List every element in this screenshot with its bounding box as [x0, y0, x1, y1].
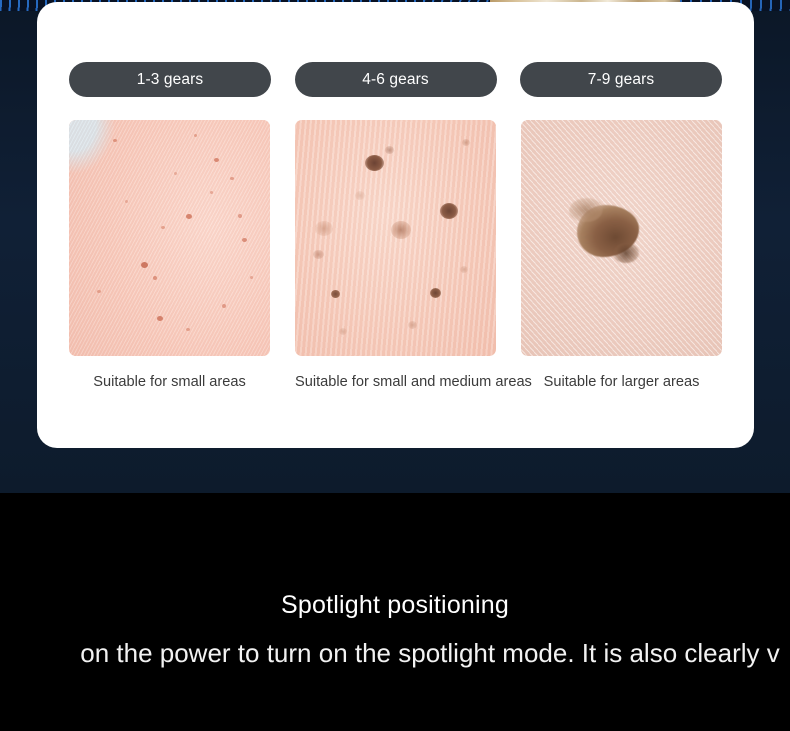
gear-example-images	[69, 120, 722, 356]
spotlight-section-title: Spotlight positioning	[0, 591, 790, 620]
skin-medium-spots-photo	[295, 120, 496, 356]
gear-tab-1-3[interactable]: 1-3 gears	[69, 62, 271, 97]
skin-small-spots-photo	[69, 120, 270, 356]
caption-larger-areas: Suitable for larger areas	[521, 374, 722, 390]
caption-medium-areas: Suitable for small and medium areas	[295, 374, 496, 390]
skin-large-lesion-photo	[521, 120, 722, 356]
gear-tab-4-6[interactable]: 4-6 gears	[295, 62, 497, 97]
skin-texture-a	[69, 120, 270, 356]
gear-guide-card: 1-3 gears 4-6 gears 7-9 gears	[37, 2, 754, 448]
spotlight-section: Spotlight positioning on the power to tu…	[0, 493, 790, 731]
spotlight-section-body: on the power to turn on the spotlight mo…	[0, 638, 790, 669]
gear-level-tabs: 1-3 gears 4-6 gears 7-9 gears	[69, 62, 722, 97]
caption-small-areas: Suitable for small areas	[69, 374, 270, 390]
gear-example-captions: Suitable for small areas Suitable for sm…	[69, 374, 722, 396]
gear-tab-7-9[interactable]: 7-9 gears	[520, 62, 722, 97]
screen-root: 1-3 gears 4-6 gears 7-9 gears	[0, 0, 790, 731]
